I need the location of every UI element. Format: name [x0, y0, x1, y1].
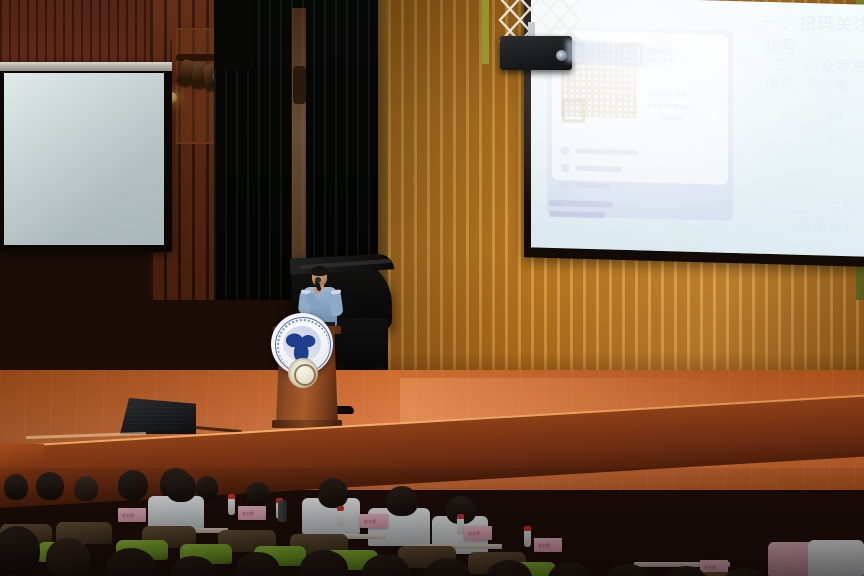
slide-card-row-3: [576, 183, 610, 189]
qr-finder-icon: [620, 43, 643, 67]
list-bullet-icon: [561, 180, 570, 189]
list-bullet-icon: [561, 163, 570, 172]
audience-shading: [0, 468, 864, 576]
projector-lens-icon: [556, 50, 567, 61]
slide-side-note-2: 信息: [829, 136, 845, 147]
black-curtain-fold: [214, 0, 254, 70]
audience-area: 姓名牌 姓名牌 姓名牌 姓名牌 姓名牌 姓名牌: [0, 468, 864, 576]
slide-heading-line-4: 服务、用企事: [765, 74, 849, 96]
national-emblem-inner-icon: [294, 364, 316, 386]
secondary-projection-screen: [4, 73, 164, 245]
slide-card-note-3: 在线查询: [661, 115, 683, 123]
slide-card-note-2: 关注后可办理业务: [647, 103, 690, 111]
auditorium-scene: 扫码关注 微信公众号 长按识别二维码 关注后可办理业务 在线查询 一、扫码关注 …: [0, 0, 864, 576]
qr-finder-icon: [562, 99, 585, 123]
curtain-gap-wall: [292, 8, 306, 276]
slide-card-footer-2: [549, 211, 605, 219]
list-bullet-icon: [561, 146, 570, 155]
emblem-monogram-icon: [283, 326, 321, 362]
microphone-head-icon: [315, 277, 321, 283]
slide-side-note-1: 实名: [827, 112, 843, 123]
slide-faded-line-2: （含照片）: [783, 214, 858, 237]
backstage-object: [293, 66, 306, 104]
monitor-speaker-grill: [126, 404, 184, 428]
slide-card-title: 扫码关注: [647, 46, 673, 56]
slide-card-subtitle: 微信公众号: [647, 57, 674, 65]
secondary-screen-roller: [0, 62, 172, 71]
slide-card-note-1: 长按识别二维码: [649, 91, 687, 99]
presenter-hair: [311, 266, 328, 276]
wall-edge-green-left: [482, 0, 489, 64]
